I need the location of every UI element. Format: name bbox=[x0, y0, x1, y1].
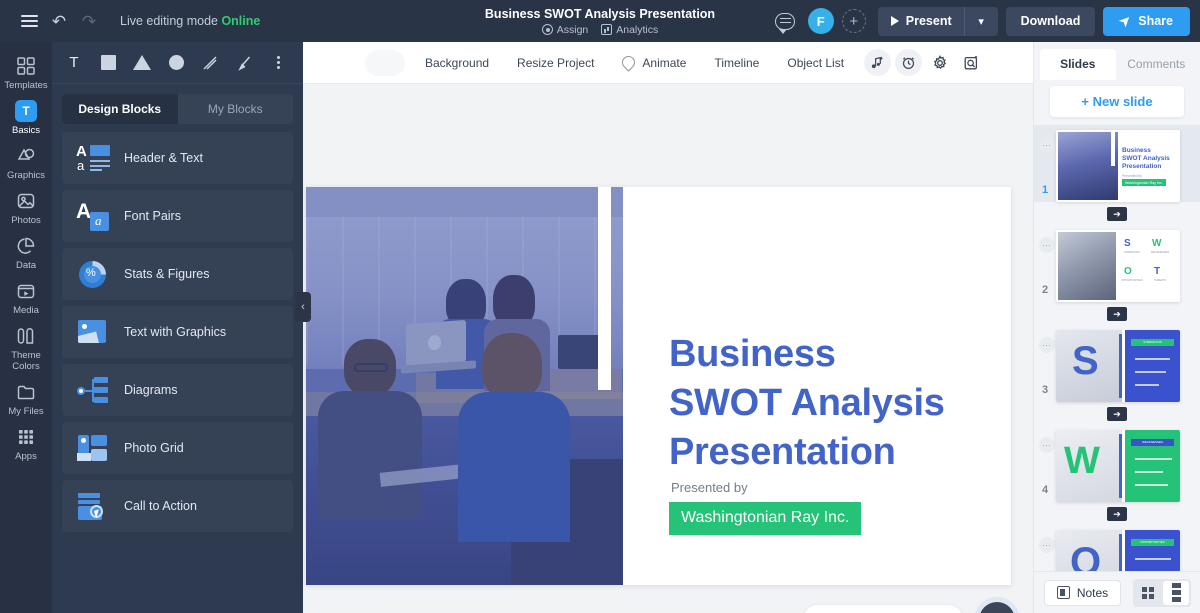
undo-button[interactable]: ↶ bbox=[44, 6, 74, 36]
presentation-editor: ↶ ↷ Live editing mode Online Business SW… bbox=[0, 0, 1200, 613]
slide-menu-button[interactable]: ⋯ bbox=[1039, 237, 1055, 253]
triangle-icon bbox=[133, 55, 151, 70]
thumbnail[interactable]: S STRENGTHS bbox=[1056, 330, 1180, 402]
thumb-title-line-2: SWOT Analysis bbox=[1122, 155, 1170, 163]
slide-title[interactable]: Business SWOT Analysis Presentation bbox=[669, 330, 969, 477]
company-badge[interactable]: Washingtonian Ray Inc. bbox=[669, 502, 861, 535]
thumb-title-line-1: Business bbox=[1122, 147, 1170, 155]
timeline-button[interactable]: Timeline bbox=[700, 56, 773, 70]
zoom-control[interactable]: 62% bbox=[803, 605, 963, 613]
text-tool[interactable]: T bbox=[58, 48, 90, 78]
share-button[interactable]: ➤ Share bbox=[1103, 7, 1190, 36]
block-diagrams[interactable]: Diagrams bbox=[62, 364, 293, 416]
block-label: Header & Text bbox=[124, 151, 203, 165]
top-bar: ↶ ↷ Live editing mode Online Business SW… bbox=[0, 0, 1200, 42]
slide-number: 1 bbox=[1034, 184, 1056, 202]
canvas-toolbar-icons bbox=[864, 49, 984, 76]
document-actions: Assign Analytics bbox=[542, 24, 659, 36]
thumb-title-line-3: Presentation bbox=[1122, 163, 1170, 171]
top-bar-left: ↶ ↷ Live editing mode Online bbox=[0, 6, 260, 36]
shape-tools: T bbox=[52, 42, 303, 84]
canvas-toolbar: Background Resize Project Animate Timeli… bbox=[303, 42, 1033, 84]
circle-tool[interactable] bbox=[160, 48, 192, 78]
add-search-icon bbox=[963, 55, 979, 71]
slides-panel: Slides Comments + New slide ⋯ 1 Business… bbox=[1033, 42, 1200, 613]
line-tool[interactable] bbox=[194, 48, 226, 78]
square-icon bbox=[101, 55, 116, 70]
sidebar-item-label: My Files bbox=[8, 406, 43, 417]
animate-label: Animate bbox=[642, 56, 686, 70]
text-graphics-icon bbox=[76, 317, 110, 347]
slide-thumb-2[interactable]: ⋯ 2 S STRENGTHS W WEAKNESSES O OPPORTUNI… bbox=[1034, 225, 1200, 302]
thumb-letter-t: T bbox=[1154, 266, 1160, 277]
download-button[interactable]: Download bbox=[1006, 7, 1096, 36]
add-collaborator-button[interactable]: + bbox=[842, 9, 866, 33]
tab-my-blocks[interactable]: My Blocks bbox=[178, 94, 294, 124]
sidebar-item-label: Apps bbox=[15, 451, 37, 462]
page-title[interactable]: Business SWOT Analysis Presentation bbox=[485, 7, 715, 21]
percent-glyph: % bbox=[86, 268, 96, 279]
slide-photo[interactable] bbox=[306, 187, 623, 585]
play-icon bbox=[891, 16, 899, 26]
block-call-to-action[interactable]: Call to Action bbox=[62, 480, 293, 532]
comments-button[interactable] bbox=[770, 6, 800, 36]
thumb-header-opportunities: OPPORTUNITIES bbox=[1131, 540, 1174, 544]
background-button[interactable]: Background bbox=[411, 56, 503, 70]
sidebar-item-label: Media bbox=[13, 305, 39, 316]
circle-icon bbox=[169, 55, 184, 70]
photo-grid-icon bbox=[76, 433, 110, 463]
object-list-button[interactable]: Object List bbox=[773, 56, 858, 70]
thumb-company-label: Washingtonian Ray Inc. bbox=[1125, 181, 1163, 185]
new-slide-button[interactable]: + New slide bbox=[1050, 86, 1184, 117]
slide-thumb-4[interactable]: ⋯ 4 W WEAKNESSES bbox=[1034, 425, 1200, 502]
text-tool-glyph: T bbox=[69, 54, 78, 71]
slide-menu-button[interactable]: ⋯ bbox=[1039, 337, 1055, 353]
panel-tabs: Design Blocks My Blocks bbox=[62, 94, 293, 124]
add-music-button[interactable] bbox=[864, 49, 891, 76]
thumb-label-strengths: STRENGTHS bbox=[1120, 251, 1144, 254]
graphics-icon bbox=[15, 145, 37, 167]
sidebar-item-graphics[interactable]: Graphics bbox=[0, 140, 52, 185]
slide-number: 3 bbox=[1034, 384, 1056, 402]
sidebar-item-my-files[interactable]: My Files bbox=[0, 376, 52, 421]
collapse-panel-button[interactable]: ‹ bbox=[295, 292, 311, 322]
grid-view-icon bbox=[1142, 587, 1154, 599]
timer-icon bbox=[901, 55, 916, 70]
slide-stage: Business SWOT Analysis Presentation Pres… bbox=[303, 84, 1033, 613]
tab-comments[interactable]: Comments bbox=[1119, 49, 1195, 80]
chevron-down-icon: ▾ bbox=[978, 15, 984, 28]
slide-thumb-3[interactable]: ⋯ 3 S STRENGTHS bbox=[1034, 325, 1200, 402]
slide-title-line-3: Presentation bbox=[669, 428, 969, 477]
share-label: Share bbox=[1138, 14, 1173, 28]
slides-panel-tabs: Slides Comments bbox=[1034, 42, 1200, 80]
assign-label: Assign bbox=[557, 24, 589, 36]
thumb-label-opportunities: OPPORTUNITIES bbox=[1120, 279, 1144, 282]
share-arrow-icon: ➤ bbox=[1116, 11, 1135, 30]
apps-grid-icon bbox=[15, 426, 37, 448]
slide-text-area: Business SWOT Analysis Presentation Pres… bbox=[623, 187, 1011, 585]
font-pairs-icon: A a bbox=[76, 201, 110, 231]
add-search-button[interactable] bbox=[957, 49, 984, 76]
sidebar-item-label: Photos bbox=[11, 215, 41, 226]
thumb-letter-o: O bbox=[1124, 266, 1132, 277]
analytics-icon bbox=[601, 24, 612, 35]
header-icon-a: a bbox=[77, 159, 84, 172]
sidebar-item-apps[interactable]: Apps bbox=[0, 421, 52, 466]
block-text-with-graphics[interactable]: Text with Graphics bbox=[62, 306, 293, 358]
font-pairs-a: a bbox=[95, 213, 102, 229]
add-music-icon bbox=[870, 55, 885, 70]
grid-view-button[interactable] bbox=[1135, 581, 1161, 605]
present-button[interactable]: Present bbox=[878, 7, 964, 36]
thumbnail[interactable]: Business SWOT Analysis Presentation Pres… bbox=[1056, 130, 1180, 202]
brush-icon bbox=[235, 54, 253, 72]
stats-figures-icon: % bbox=[76, 259, 110, 289]
slide-white-accent-bar bbox=[598, 187, 611, 390]
thumb-company-badge: Washingtonian Ray Inc. bbox=[1122, 179, 1166, 186]
redo-icon: ↷ bbox=[82, 13, 96, 30]
transition-arrow-icon[interactable]: ➔ bbox=[1107, 307, 1127, 321]
view-toggle bbox=[1133, 579, 1191, 607]
live-editing-label: Live editing mode bbox=[120, 14, 221, 28]
block-photo-grid[interactable]: Photo Grid bbox=[62, 422, 293, 474]
slide-thumb-1[interactable]: ⋯ 1 Business SWOT Analysis Presentation … bbox=[1034, 125, 1200, 202]
sidebar-item-photos[interactable]: Photos bbox=[0, 185, 52, 230]
thumb-letter-s: S bbox=[1124, 238, 1131, 249]
toolbar-placeholder bbox=[365, 50, 405, 76]
sidebar-item-label: Theme Colors bbox=[0, 350, 52, 372]
sidebar-item-label: Graphics bbox=[7, 170, 45, 181]
block-label: Text with Graphics bbox=[124, 325, 226, 339]
slide-menu-button[interactable]: ⋯ bbox=[1039, 137, 1055, 153]
thumb-letter-w: W bbox=[1064, 442, 1100, 480]
analytics-button[interactable]: Analytics bbox=[601, 24, 658, 36]
tab-design-blocks[interactable]: Design Blocks bbox=[62, 94, 178, 124]
thumbnail[interactable]: W WEAKNESSES bbox=[1056, 430, 1180, 502]
line-icon bbox=[201, 54, 219, 72]
thumbnail[interactable]: S STRENGTHS W WEAKNESSES O OPPORTUNITIES… bbox=[1056, 230, 1180, 302]
basics-text-icon: T bbox=[15, 100, 37, 122]
slide-canvas[interactable]: Business SWOT Analysis Presentation Pres… bbox=[306, 187, 1011, 585]
call-to-action-icon bbox=[76, 491, 110, 521]
notes-button[interactable]: Notes bbox=[1044, 580, 1121, 606]
resize-project-button[interactable]: Resize Project bbox=[503, 56, 608, 70]
present-label: Present bbox=[906, 14, 952, 28]
undo-icon: ↶ bbox=[52, 13, 66, 30]
transition-arrow-icon[interactable]: ➔ bbox=[1107, 207, 1127, 221]
diagrams-icon bbox=[76, 375, 110, 405]
font-pairs-A: A bbox=[76, 201, 91, 222]
block-label: Diagrams bbox=[124, 383, 178, 397]
canvas-area: Background Resize Project Animate Timeli… bbox=[303, 42, 1033, 613]
slide-number: 2 bbox=[1034, 284, 1056, 302]
sidebar-item-label: Data bbox=[16, 260, 36, 271]
thumb-header-weaknesses: WEAKNESSES bbox=[1131, 440, 1174, 444]
thumb-letter-w: W bbox=[1152, 238, 1161, 249]
transition-arrow-icon[interactable]: ➔ bbox=[1107, 507, 1127, 521]
media-icon bbox=[15, 280, 37, 302]
live-editing-status: Live editing mode Online bbox=[120, 14, 260, 28]
slide-menu-button[interactable]: ⋯ bbox=[1039, 437, 1055, 453]
tab-slides[interactable]: Slides bbox=[1040, 49, 1116, 80]
present-dropdown-button[interactable]: ▾ bbox=[964, 7, 998, 36]
block-label: Call to Action bbox=[124, 499, 197, 513]
sidebar-item-media[interactable]: Media bbox=[0, 275, 52, 320]
sidebar-item-basics[interactable]: T Basics bbox=[0, 95, 52, 140]
blocks-list: A a Header & Text A a Font Pairs % Stats… bbox=[52, 132, 303, 532]
animate-button[interactable]: Animate bbox=[608, 56, 700, 70]
slide-title-line-2: SWOT Analysis bbox=[669, 379, 969, 428]
photos-icon bbox=[15, 190, 37, 212]
block-label: Font Pairs bbox=[124, 209, 181, 223]
hamburger-menu-button[interactable] bbox=[14, 6, 44, 36]
top-bar-right: F + Present ▾ Download ➤ Share bbox=[770, 0, 1190, 42]
block-font-pairs[interactable]: A a Font Pairs bbox=[62, 190, 293, 242]
timer-button[interactable] bbox=[895, 49, 922, 76]
sidebar-item-label: Basics bbox=[12, 125, 40, 136]
presented-by-label[interactable]: Presented by bbox=[671, 480, 748, 495]
thumb-label-threats: THREATS bbox=[1146, 279, 1174, 282]
notes-label: Notes bbox=[1077, 586, 1108, 600]
slides-panel-footer: Notes bbox=[1034, 571, 1200, 613]
block-header-text[interactable]: A a Header & Text bbox=[62, 132, 293, 184]
brush-tool[interactable] bbox=[228, 48, 260, 78]
thumb-title: Business SWOT Analysis Presentation bbox=[1122, 147, 1170, 171]
present-group: Present ▾ bbox=[878, 7, 998, 36]
chat-icon bbox=[775, 13, 795, 30]
slide-number: 4 bbox=[1034, 484, 1056, 502]
block-stats-figures[interactable]: % Stats & Figures bbox=[62, 248, 293, 300]
slide-title-line-1: Business bbox=[669, 330, 969, 379]
slides-list[interactable]: ⋯ 1 Business SWOT Analysis Presentation … bbox=[1034, 125, 1200, 587]
square-tool[interactable] bbox=[92, 48, 124, 78]
settings-gear-icon bbox=[932, 55, 948, 71]
settings-button[interactable] bbox=[926, 49, 953, 76]
avatar[interactable]: F bbox=[808, 8, 834, 34]
thumb-header-strengths: STRENGTHS bbox=[1131, 340, 1174, 344]
basics-t-glyph: T bbox=[15, 100, 37, 122]
header-text-icon: A a bbox=[76, 143, 110, 173]
theme-colors-icon bbox=[15, 325, 37, 347]
slide-menu-button[interactable]: ⋯ bbox=[1039, 537, 1055, 553]
hamburger-icon bbox=[21, 15, 38, 27]
thumb-label-weaknesses: WEAKNESSES bbox=[1146, 251, 1174, 254]
folder-icon bbox=[15, 381, 37, 403]
notes-icon bbox=[1057, 586, 1070, 599]
header-icon-A: A bbox=[76, 144, 87, 159]
data-pie-icon bbox=[15, 235, 37, 257]
design-panel: T Design Blocks My Blocks bbox=[52, 42, 303, 613]
thumb-presented-by: Presented by bbox=[1122, 174, 1142, 178]
templates-icon bbox=[15, 55, 37, 77]
help-button[interactable]: ? bbox=[979, 602, 1015, 613]
redo-button[interactable]: ↷ bbox=[74, 6, 104, 36]
block-label: Photo Grid bbox=[124, 441, 184, 455]
triangle-tool[interactable] bbox=[126, 48, 158, 78]
thumb-letter-s: S bbox=[1072, 341, 1099, 381]
animate-icon bbox=[620, 53, 638, 71]
sidebar-item-label: Templates bbox=[4, 80, 47, 91]
photo-tint-overlay bbox=[306, 187, 623, 585]
sidebar-item-templates[interactable]: Templates bbox=[0, 50, 52, 95]
assign-button[interactable]: Assign bbox=[542, 24, 589, 36]
transition-arrow-icon[interactable]: ➔ bbox=[1107, 407, 1127, 421]
online-status: Online bbox=[221, 14, 260, 28]
person-icon bbox=[542, 24, 553, 35]
sidebar-item-data[interactable]: Data bbox=[0, 230, 52, 275]
list-view-icon bbox=[1172, 583, 1181, 602]
analytics-label: Analytics bbox=[616, 24, 658, 36]
list-view-button[interactable] bbox=[1163, 581, 1189, 605]
block-label: Stats & Figures bbox=[124, 267, 209, 281]
more-tools-button[interactable] bbox=[262, 48, 294, 78]
left-rail: Templates T Basics Graphics Ph bbox=[0, 42, 52, 613]
sidebar-item-theme-colors[interactable]: Theme Colors bbox=[0, 320, 52, 376]
chevron-left-icon: ‹ bbox=[301, 301, 305, 313]
